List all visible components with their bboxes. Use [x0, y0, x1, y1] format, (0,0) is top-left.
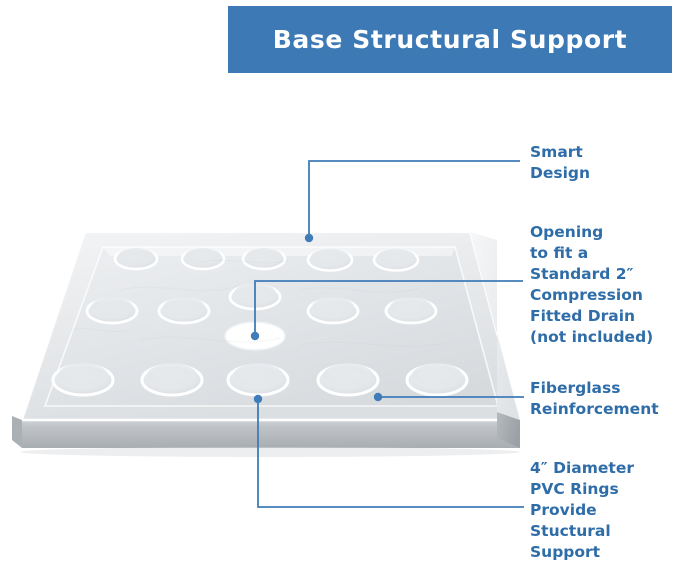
callout-label-smart-design: Smart Design — [530, 142, 590, 184]
page-title: Base Structural Support — [273, 25, 627, 54]
pvc-ring — [308, 298, 358, 324]
pvc-ring — [318, 364, 378, 396]
pvc-ring — [53, 364, 113, 396]
header-banner: Base Structural Support — [228, 6, 672, 73]
pvc-ring — [230, 284, 280, 310]
pvc-ring — [308, 249, 352, 271]
pvc-ring — [243, 248, 285, 269]
pvc-ring — [87, 298, 137, 324]
callout-label-drain-opening: Opening to fit a Standard 2″ Compression… — [530, 222, 653, 348]
pvc-ring — [228, 364, 288, 396]
callout-label-pvc-rings: 4″ Diameter PVC Rings Provide Stuctural … — [530, 458, 634, 563]
pan-shadow — [20, 447, 520, 457]
callout-label-fiberglass: Fiberglass Reinforcement — [530, 378, 659, 420]
pan-front-face — [22, 420, 520, 448]
pvc-ring — [386, 298, 436, 324]
drain-opening — [225, 322, 285, 350]
pan-left-bevel — [12, 416, 22, 448]
pvc-ring — [159, 298, 209, 324]
pvc-ring — [115, 248, 157, 269]
illustration-canvas: Base Structural Support Smart Design Ope… — [0, 0, 679, 566]
pvc-ring — [374, 249, 418, 271]
pvc-ring — [182, 248, 224, 269]
pvc-ring — [142, 364, 202, 396]
pvc-ring — [407, 364, 467, 396]
